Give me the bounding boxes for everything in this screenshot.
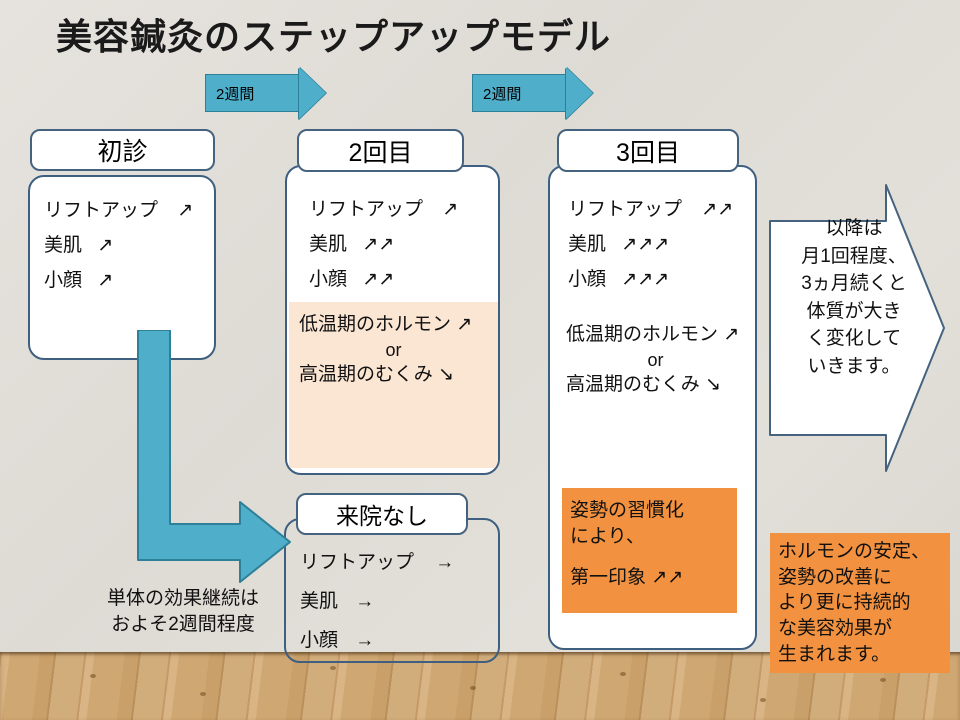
posture-block-card3: 姿勢の習慣化 により、 第一印象 ↗↗ bbox=[562, 488, 737, 613]
chevron-line-6: いきます。 bbox=[788, 353, 920, 381]
effect-arrows: → bbox=[419, 552, 454, 573]
effect-row: リフトアップ ↗↗ bbox=[568, 200, 733, 219]
effect-arrows: ↗↗ bbox=[687, 199, 733, 220]
arrow-head-icon bbox=[299, 67, 326, 119]
chevron-line-3: 3ヵ月続くと bbox=[788, 270, 920, 298]
orange-note-line-4: な美容効果が bbox=[778, 616, 942, 642]
no-visit-header: 来院なし bbox=[296, 493, 468, 535]
effect-arrows: ↗↗↗ bbox=[611, 269, 669, 290]
posture-line-2: により、 bbox=[570, 524, 729, 550]
effect-name: リフトアップ bbox=[300, 552, 414, 573]
effect-arrows: ↗↗ bbox=[352, 269, 394, 290]
effect-arrows: ↗↗↗ bbox=[611, 234, 669, 255]
caption-line-2: およそ2週間程度 bbox=[78, 612, 288, 638]
hormone-or: or bbox=[299, 338, 488, 362]
orange-note-line-1: ホルモンの安定、 bbox=[778, 539, 942, 565]
card-second-visit: リフトアップ ↗ 美肌 ↗↗ 小顔 ↗↗ 低温期のホルモン ↗ or 高温期のむ… bbox=[285, 165, 500, 475]
arrow-head-icon bbox=[566, 67, 593, 119]
slide-canvas: 美容鍼灸のステップアップモデル 2週間 2週間 初診 リフトアップ ↗ 美肌 ↗… bbox=[0, 0, 960, 720]
effect-row: 小顔 ↗ bbox=[44, 271, 113, 290]
orange-note-line-3: より更に持続的 bbox=[778, 590, 942, 616]
effect-row: 小顔 ↗↗ bbox=[309, 270, 394, 289]
effect-row: 小顔 ↗↗↗ bbox=[568, 270, 669, 289]
chevron-line-5: く変化して bbox=[788, 325, 920, 353]
effect-arrows: ↗ bbox=[87, 235, 113, 256]
column-header-3: 3回目 bbox=[557, 129, 739, 172]
effect-name: リフトアップ bbox=[309, 199, 423, 220]
orange-note-line-5: 生まれます。 bbox=[778, 642, 942, 668]
chevron-note-text: 以降は 月1回程度、 3ヵ月続くと 体質が大き く変化して いきます。 bbox=[788, 215, 920, 380]
posture-line-3: 第一印象 ↗↗ bbox=[570, 565, 729, 591]
chevron-line-2: 月1回程度、 bbox=[788, 243, 920, 271]
orange-note-line-2: 姿勢の改善に bbox=[778, 565, 942, 591]
effect-arrows: → bbox=[343, 591, 374, 612]
effect-row: リフトアップ → bbox=[300, 553, 454, 572]
effect-name: 美肌 bbox=[300, 591, 338, 612]
effect-row: 小顔 → bbox=[300, 631, 374, 650]
effect-arrows: ↗↗ bbox=[352, 234, 394, 255]
elbow-arrow-down-right bbox=[130, 330, 310, 590]
time-arrow-1-label: 2週間 bbox=[206, 83, 254, 104]
effect-row: リフトアップ ↗ bbox=[309, 200, 458, 219]
chevron-note-shape: 以降は 月1回程度、 3ヵ月続くと 体質が大き く変化して いきます。 bbox=[768, 183, 946, 478]
hormone-line-1: 低温期のホルモン ↗ bbox=[299, 312, 488, 338]
time-arrow-2: 2週間 bbox=[472, 74, 567, 112]
effect-row: 美肌 ↗↗ bbox=[309, 235, 394, 254]
effect-name: 小顔 bbox=[568, 269, 606, 290]
effect-name: 美肌 bbox=[309, 234, 347, 255]
column-header-1-label: 初診 bbox=[97, 132, 147, 168]
hormone-line-2: 高温期のむくみ ↘ bbox=[299, 362, 488, 388]
posture-spacer bbox=[570, 549, 729, 565]
hormone-block-card2: 低温期のホルモン ↗ or 高温期のむくみ ↘ bbox=[289, 302, 498, 468]
effect-row: 美肌 → bbox=[300, 592, 374, 611]
effect-row: 美肌 ↗↗↗ bbox=[568, 235, 669, 254]
hormone-or: or bbox=[566, 348, 745, 372]
column-header-3-label: 3回目 bbox=[616, 133, 680, 169]
column-header-1: 初診 bbox=[30, 129, 215, 171]
effect-row: 美肌 ↗ bbox=[44, 236, 113, 255]
hormone-line-1: 低温期のホルモン ↗ bbox=[566, 322, 745, 348]
no-visit-header-label: 来院なし bbox=[336, 497, 428, 531]
chevron-line-1: 以降は bbox=[788, 215, 920, 243]
effect-name: 小顔 bbox=[44, 270, 82, 291]
effect-name: 小顔 bbox=[300, 630, 338, 651]
column-header-2-label: 2回目 bbox=[349, 133, 413, 169]
effect-name: リフトアップ bbox=[44, 200, 158, 221]
effect-name: 小顔 bbox=[309, 269, 347, 290]
time-arrow-2-label: 2週間 bbox=[473, 83, 521, 104]
caption-line-1: 単体の効果継続は bbox=[78, 586, 288, 612]
hormone-line-2: 高温期のむくみ ↘ bbox=[566, 372, 745, 398]
orange-summary-note: ホルモンの安定、 姿勢の改善に より更に持続的 な美容効果が 生まれます。 bbox=[770, 533, 950, 673]
card-third-visit: リフトアップ ↗↗ 美肌 ↗↗↗ 小顔 ↗↗↗ 低温期のホルモン ↗ or 高温… bbox=[548, 165, 757, 650]
duration-caption: 単体の効果継続は およそ2週間程度 bbox=[78, 586, 288, 637]
effect-arrows: ↗ bbox=[428, 199, 458, 220]
effect-name: リフトアップ bbox=[568, 199, 682, 220]
effect-name: 美肌 bbox=[568, 234, 606, 255]
posture-line-1: 姿勢の習慣化 bbox=[570, 498, 729, 524]
chevron-line-4: 体質が大き bbox=[788, 298, 920, 326]
effect-arrows: ↗ bbox=[163, 200, 193, 221]
hormone-block-card3: 低温期のホルモン ↗ or 高温期のむくみ ↘ bbox=[552, 312, 755, 462]
page-title: 美容鍼灸のステップアップモデル bbox=[56, 8, 611, 60]
column-header-2: 2回目 bbox=[297, 129, 464, 172]
time-arrow-1: 2週間 bbox=[205, 74, 300, 112]
card-no-visit: リフトアップ → 美肌 → 小顔 → bbox=[284, 518, 500, 663]
effect-row: リフトアップ ↗ bbox=[44, 201, 193, 220]
effect-arrows: → bbox=[343, 630, 374, 651]
effect-name: 美肌 bbox=[44, 235, 82, 256]
effect-arrows: ↗ bbox=[87, 270, 113, 291]
